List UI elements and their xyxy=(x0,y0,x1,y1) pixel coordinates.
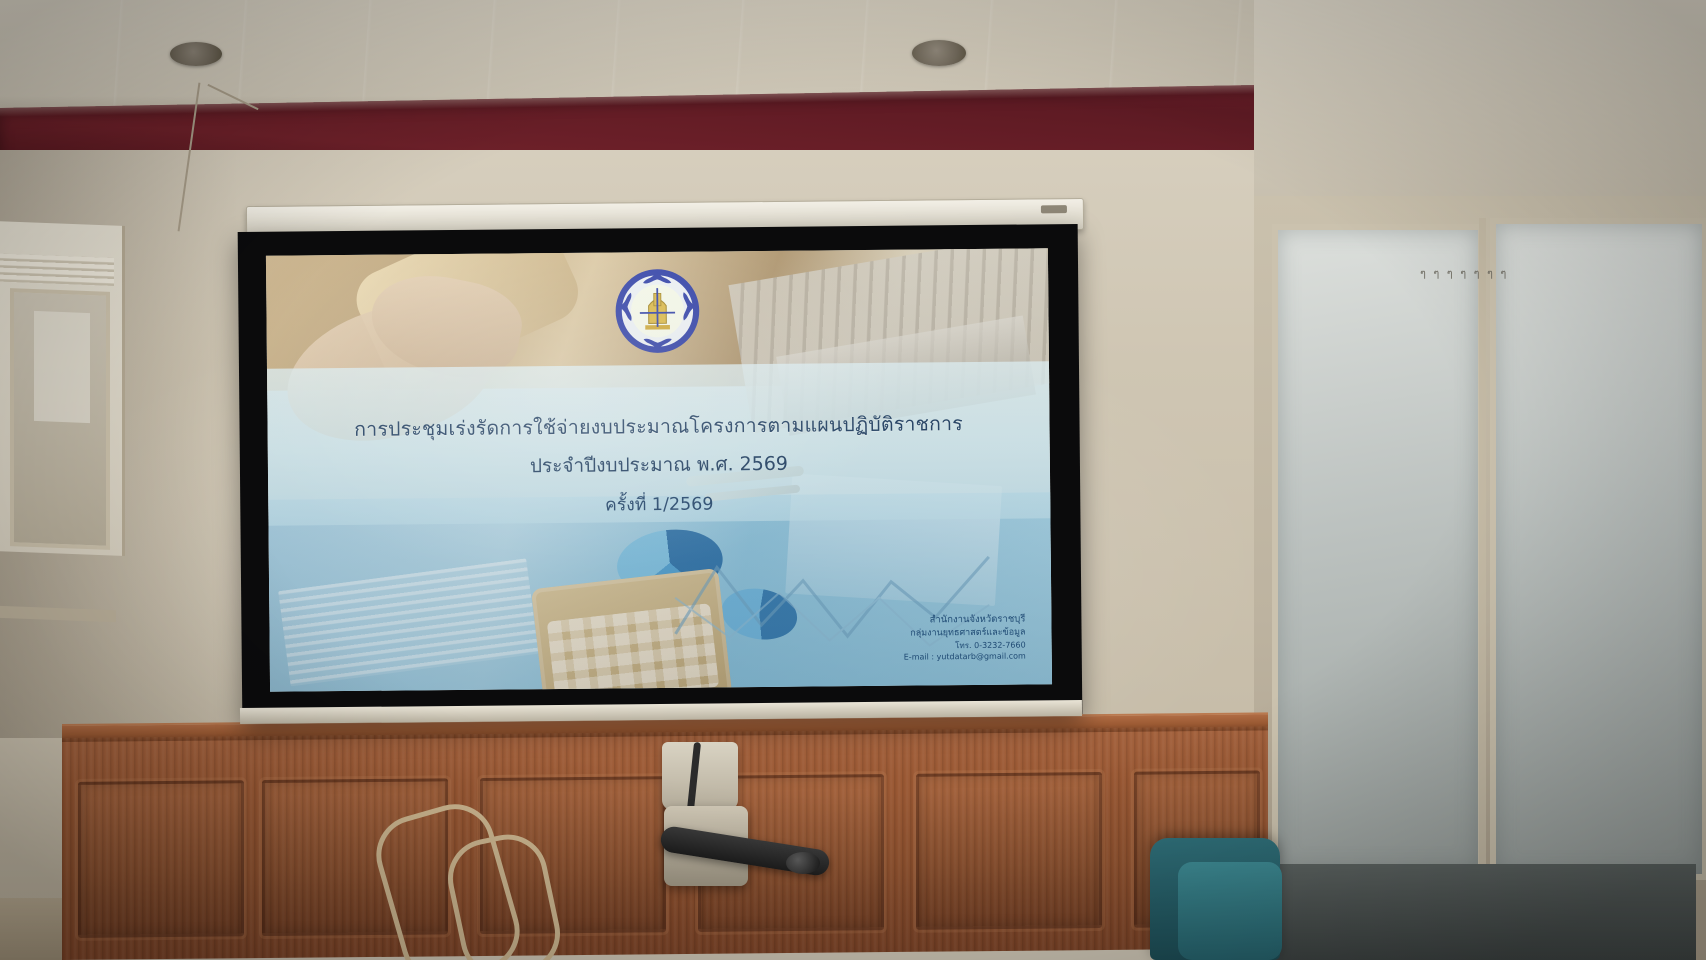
ceiling-light-icon xyxy=(912,40,966,66)
presentation-slide: การประชุมเร่งรัดการใช้จ่ายงบประมาณโครงกา… xyxy=(266,248,1052,691)
wainscot-panel xyxy=(78,780,244,938)
right-glass-doors: เจ้าหน้าที่ ผู้บริหาร ห้องประชุม ทางออก xyxy=(1254,196,1706,960)
footer-email: E-mail : yutdatarb@gmail.com xyxy=(904,651,1026,664)
door-mullion xyxy=(1479,218,1486,868)
left-window-pane xyxy=(34,311,90,423)
meeting-room-photo: เจ้าหน้าที่ ผู้บริหาร ห้องประชุม ทางออก … xyxy=(0,0,1706,960)
slide-title-line-1: การประชุมเร่งรัดการใช้จ่ายงบประมาณโครงกา… xyxy=(267,407,1049,446)
floor xyxy=(0,898,70,960)
footer-office-name: สำนักงานจังหวัดราชบุรี xyxy=(903,612,1025,627)
slide-title-line-3: ครั้งที่ 1/2569 xyxy=(268,486,1050,522)
wainscot-panel xyxy=(916,772,1102,930)
slide-title-line-2: ประจำปีงบประมาณ พ.ศ. 2569 xyxy=(268,447,1050,485)
microphone-head-icon xyxy=(786,852,820,874)
door-base-shadow xyxy=(1272,864,1696,960)
right-ceiling xyxy=(1254,0,1706,206)
ceiling-light-icon xyxy=(170,42,222,66)
glass-door-panel[interactable] xyxy=(1490,218,1706,880)
projection-screen: การประชุมเร่งรัดการใช้จ่ายงบประมาณโครงกา… xyxy=(238,224,1083,722)
glass-door-panel[interactable] xyxy=(1272,224,1484,876)
slide-footer-contact: สำนักงานจังหวัดราชบุรี กลุ่มงานยุทธศาสตร… xyxy=(903,612,1026,663)
footer-division-name: กลุ่มงานยุทธศาสตร์และข้อมูล xyxy=(903,626,1025,640)
door-header-marks: ๆ ๆ ๆ ๆ ๆ ๆ ๆ xyxy=(1420,262,1700,284)
screen-pull-knob[interactable] xyxy=(1041,205,1067,213)
window-blinds xyxy=(0,253,114,286)
teal-chair-seat xyxy=(1178,862,1282,960)
